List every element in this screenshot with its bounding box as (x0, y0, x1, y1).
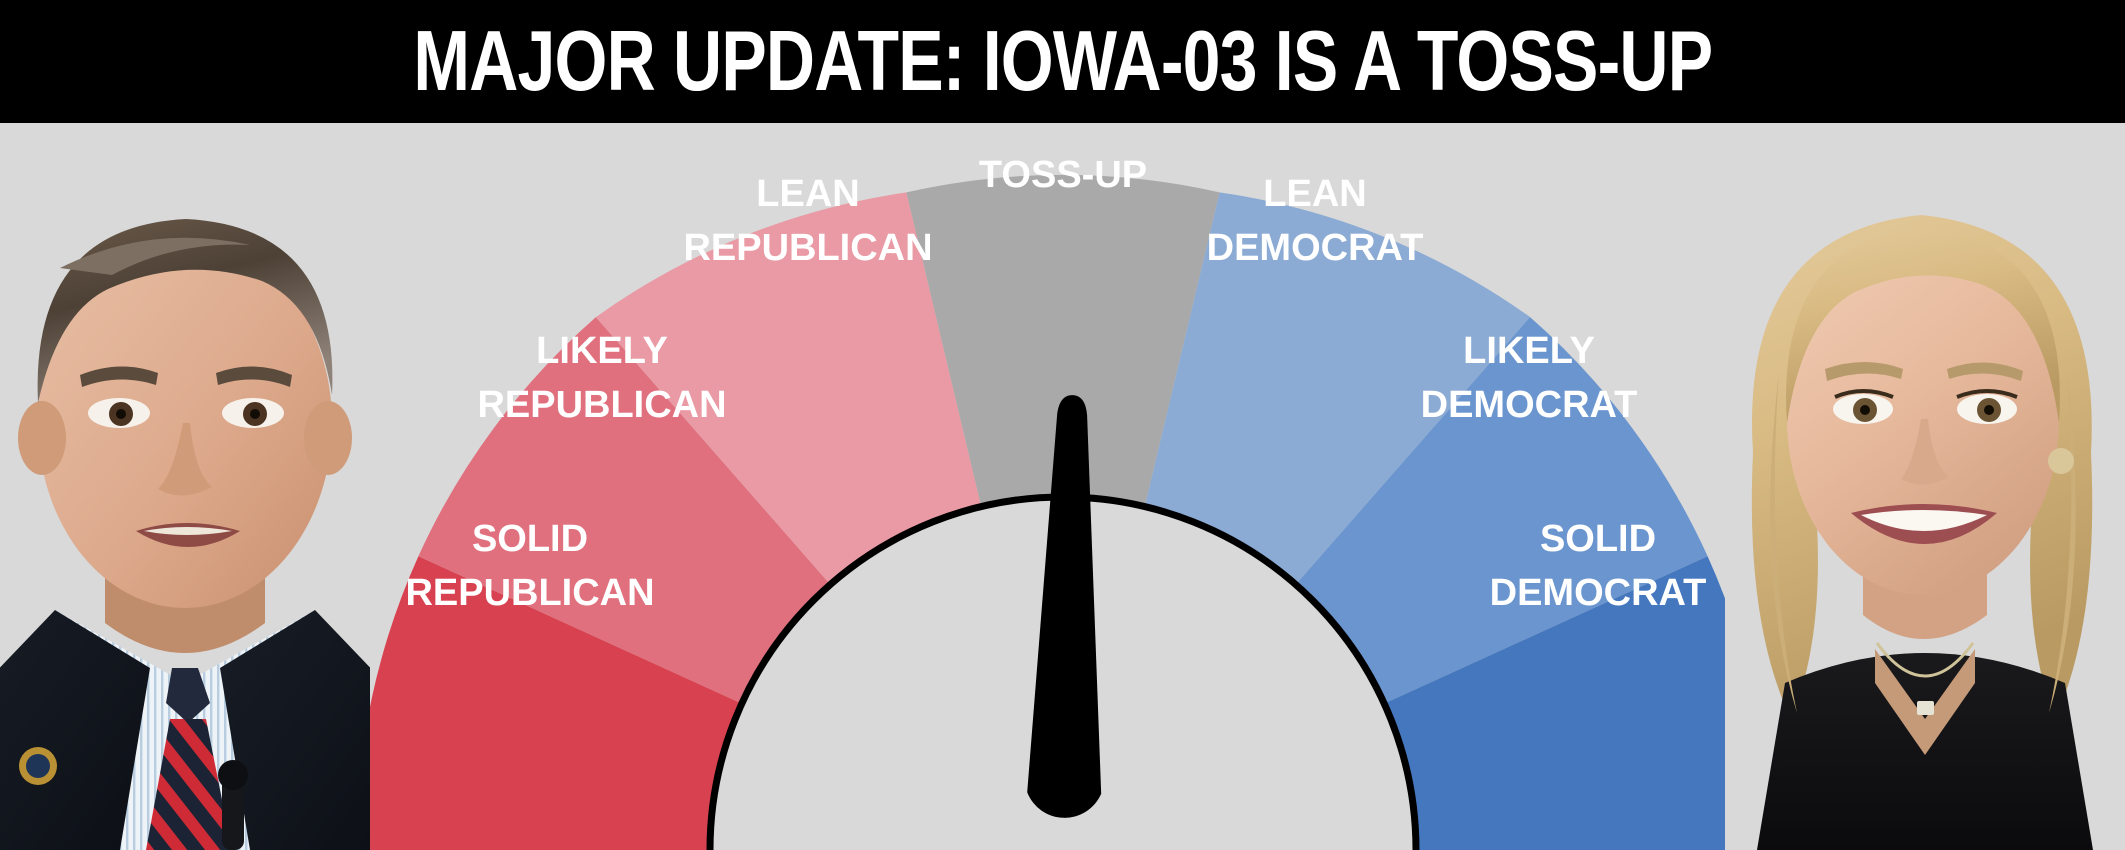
segment-label-line2: REPUBLICAN (683, 227, 932, 269)
segment-label-line2: DEMOCRAT (1207, 227, 1424, 269)
ear-left (18, 401, 66, 475)
page-title: MAJOR UPDATE: IOWA-03 IS A TOSS-UP (413, 19, 1712, 104)
necklace-pendant (1917, 701, 1934, 715)
segment-label-line1: LIKELY (1463, 330, 1595, 372)
microphone-head (218, 760, 248, 790)
graphic-stage: MAJOR UPDATE: IOWA-03 IS A TOSS-UP (0, 0, 2125, 850)
segment-label-line1: SOLID (1540, 518, 1656, 560)
segment-label-line2: REPUBLICAN (405, 572, 654, 614)
republican-photo-svg (0, 123, 370, 850)
earring (2048, 448, 2074, 474)
segment-label-line1: LEAN (756, 173, 859, 215)
segment-label-line2: DEMOCRAT (1421, 384, 1638, 426)
ear-right (304, 401, 352, 475)
pupil-left (1860, 405, 1870, 415)
segment-label-line2: REPUBLICAN (477, 384, 726, 426)
pupil-right (1984, 405, 1994, 415)
republican-candidate-photo (0, 123, 370, 850)
lapel-pin-center (26, 754, 50, 778)
segment-label-line1: TOSS-UP (979, 154, 1147, 196)
segment-label-line1: SOLID (472, 518, 588, 560)
segment-label-line2: DEMOCRAT (1490, 572, 1707, 614)
gauge-label-toss-up: TOSS-UP (979, 154, 1147, 196)
segment-label-line1: LEAN (1263, 173, 1366, 215)
headline-banner: MAJOR UPDATE: IOWA-03 IS A TOSS-UP (0, 0, 2125, 123)
democratic-photo-svg (1725, 123, 2125, 850)
segment-label-line1: LIKELY (536, 330, 668, 372)
pupil-left (116, 409, 126, 419)
pupil-right (250, 409, 260, 419)
democratic-candidate-photo (1725, 123, 2125, 850)
graphic-body: SOLID REPUBLICAN LIKELY REPUBLICAN LEAN … (0, 123, 2125, 850)
